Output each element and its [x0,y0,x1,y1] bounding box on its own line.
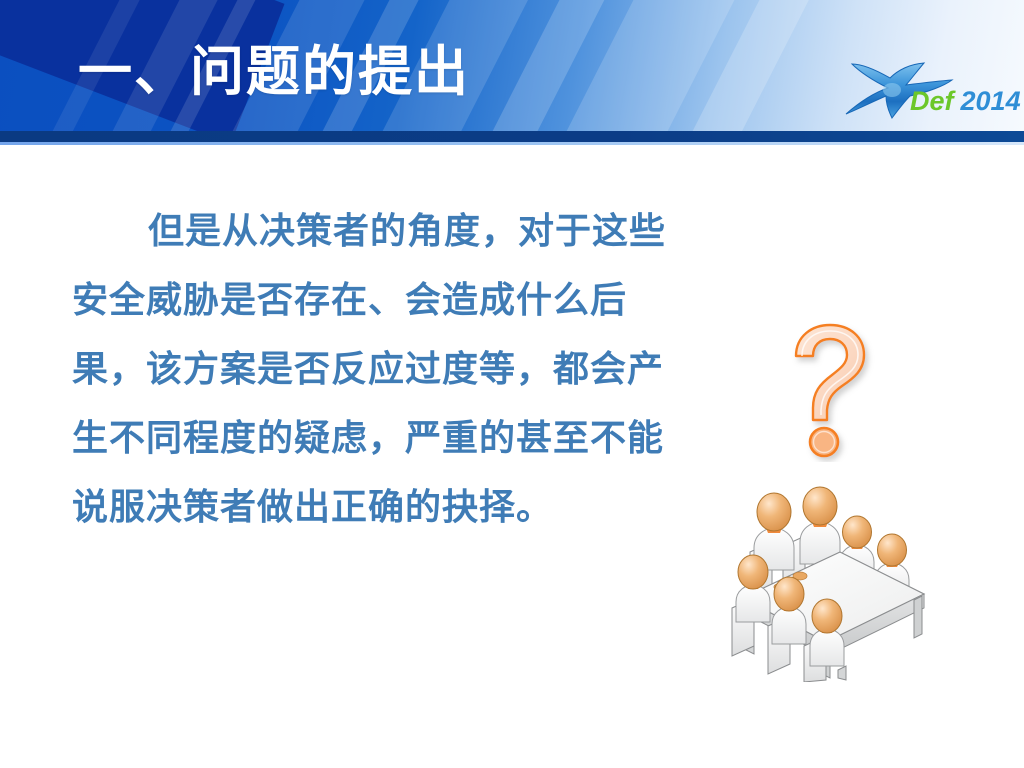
slide-canvas: 一、问题的提出 Def2014 [0,0,1024,768]
question-mark-graphic [772,322,882,462]
conference-table-people-icon [728,466,938,682]
slide-header: 一、问题的提出 Def2014 [0,0,1024,131]
logo-year-text: 2014 [961,86,1021,116]
slide-title: 一、问题的提出 [78,40,470,104]
person-figure [800,487,840,564]
header-light-streak [663,0,829,131]
header-bar-glow-line [0,142,1024,145]
header-navy-bar [0,131,1024,142]
header-light-streak [463,0,626,131]
question-mark-dot-icon [810,428,838,456]
header-light-streak [537,0,744,131]
logo-def-text: Def [910,86,954,116]
question-mark-icon [772,322,882,462]
meeting-table-graphic [728,466,938,682]
slide-body-text: 但是从决策者的角度，对于这些安全威胁是否存在、会造成什么后果，该方案是否反应过度… [72,196,672,541]
body-paragraph: 但是从决策者的角度，对于这些安全威胁是否存在、会造成什么后果，该方案是否反应过度… [72,196,672,541]
xdef-logo-text: Def2014 [910,86,1021,116]
xdef-logo: Def2014 [832,52,1012,126]
